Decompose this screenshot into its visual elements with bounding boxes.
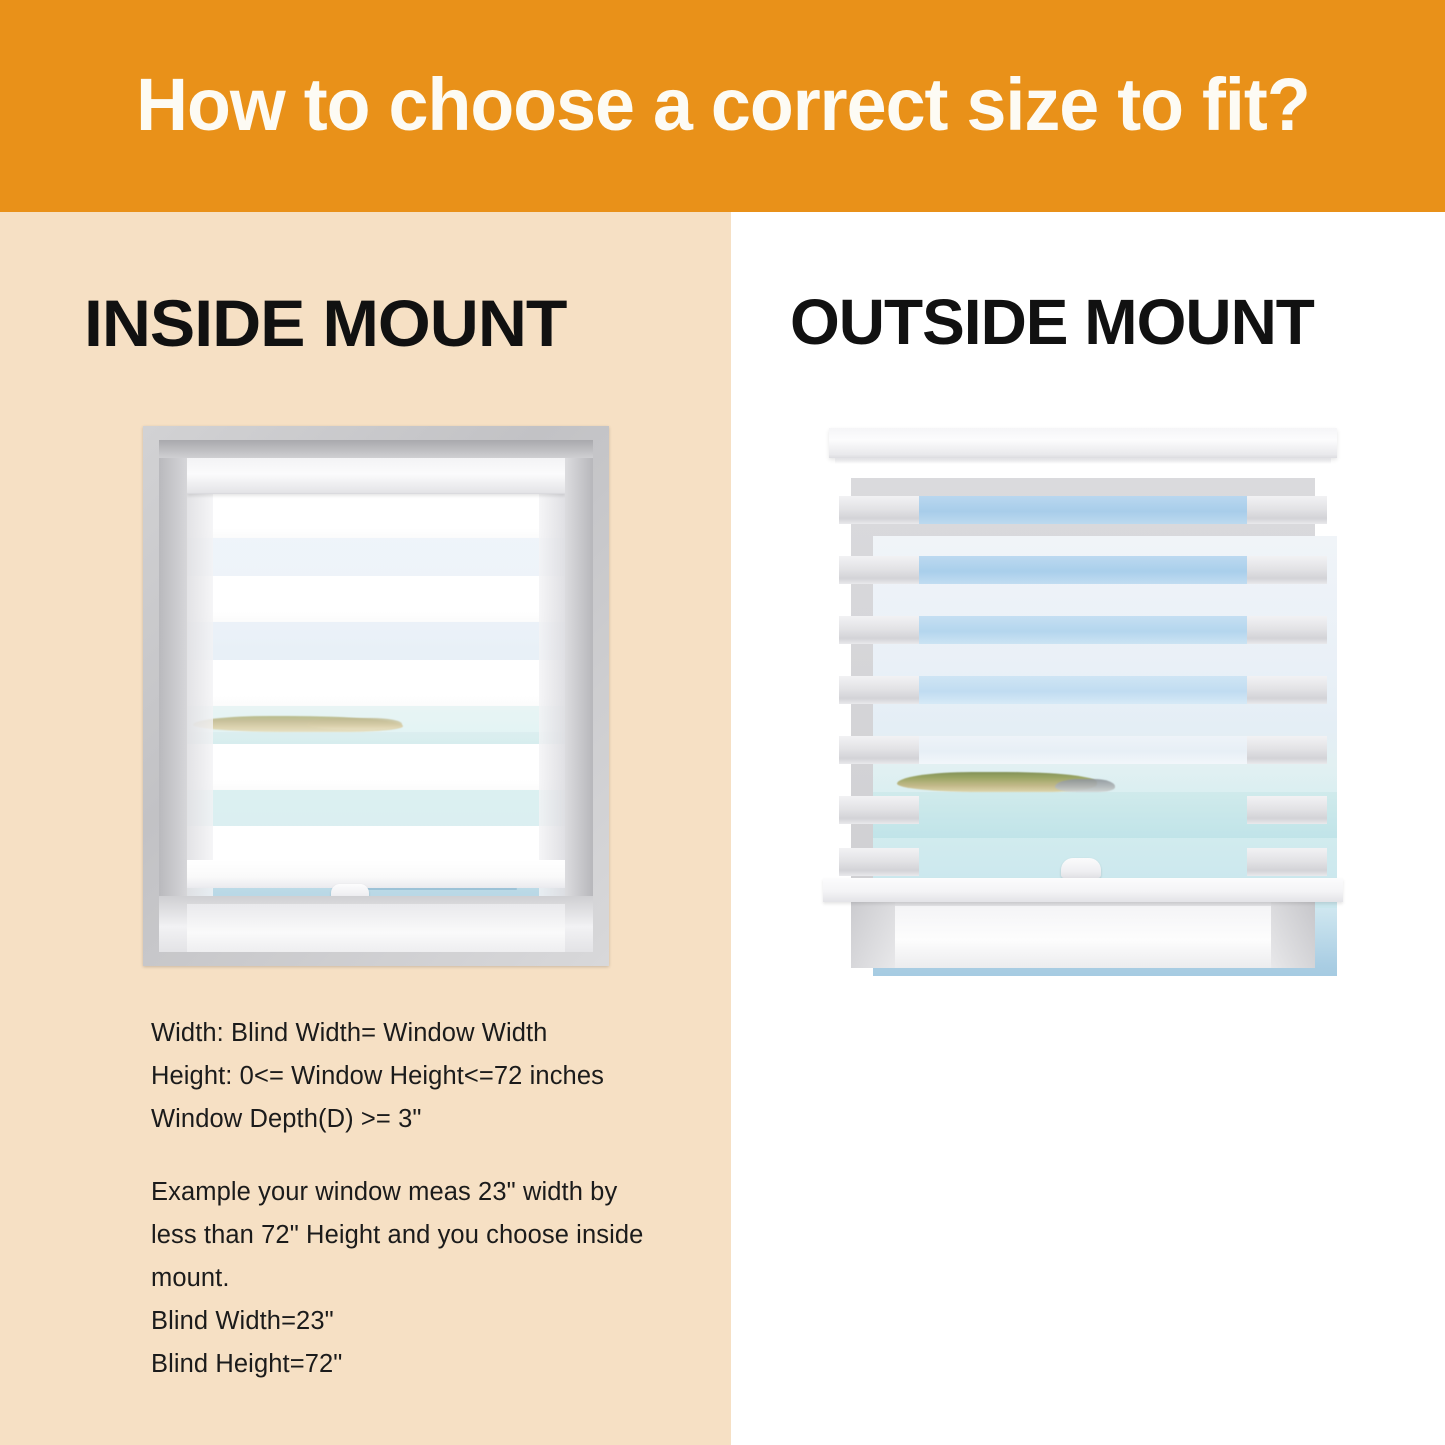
inside-spec-line: Window Depth(D) >= 3" [151, 1098, 696, 1141]
blind-bottom-rail [187, 860, 565, 888]
blind-slat-overhang-right [1247, 796, 1327, 824]
blind-opaque-band [187, 576, 565, 622]
inside-example-line: Example your window meas 23" width by [151, 1171, 696, 1214]
inside-example-line: Blind Width=23" [151, 1300, 696, 1343]
blind-slat-overhang-left [839, 556, 919, 584]
window-header-jamb [159, 440, 593, 458]
blind-slat [839, 496, 1327, 524]
blind-headrail [829, 428, 1337, 458]
blind-slat-overhang-right [1247, 616, 1327, 644]
blind-slat-overhang-left [839, 736, 919, 764]
blind-sheer-band [913, 676, 1253, 704]
blind-slat-overhang-right [1247, 556, 1327, 584]
inside-example-line: Blind Height=72" [151, 1343, 696, 1386]
blind-slat [839, 556, 1327, 584]
outside-mount-illustration [829, 420, 1337, 968]
blind-slat [839, 676, 1327, 704]
outside-mount-heading: OUTSIDE MOUNT [790, 290, 1314, 354]
inside-example-line: mount. [151, 1257, 696, 1300]
blind-slat-overhang-right [1247, 496, 1327, 524]
blind-sheer-band [187, 790, 565, 826]
blind-slat [839, 796, 1327, 824]
blind-slat-overhang-left [839, 796, 919, 824]
inside-spec-line: Height: 0<= Window Height<=72 inches [151, 1055, 696, 1098]
window-jamb-left [159, 440, 187, 952]
blind-sheer-band [913, 736, 1253, 764]
window-sill-face [187, 904, 565, 952]
paragraph-spacer [151, 1141, 696, 1171]
blind-opaque-band [187, 660, 565, 706]
inside-mount-heading: INSIDE MOUNT [84, 290, 566, 356]
blind-sheer-band [187, 622, 565, 660]
blind-sheer-band [913, 496, 1253, 524]
window-recess-inner [889, 906, 1277, 968]
inside-mount-panel: INSIDE MOUNT [0, 212, 731, 1445]
header-banner: How to choose a correct size to fit? [0, 0, 1445, 212]
blind-headrail [187, 458, 565, 494]
blind-side-tape-left [187, 458, 213, 910]
rock-outcrop [1055, 779, 1115, 792]
blind-slat-overhang-left [839, 848, 919, 876]
zebra-blind-fabric [187, 458, 565, 910]
page-title: How to choose a correct size to fit? [136, 62, 1310, 147]
window-jamb-right [565, 440, 593, 952]
inside-mount-text: Width: Blind Width= Window Width Height:… [151, 1012, 696, 1386]
blind-sheer-band [913, 556, 1253, 584]
blind-slat-overhang-left [839, 676, 919, 704]
blind-slat-overhang-right [1247, 736, 1327, 764]
blind-sheer-band [913, 616, 1253, 644]
outside-mount-panel: OUTSIDE MOUNT [731, 212, 1445, 1445]
blind-slat [839, 616, 1327, 644]
blind-headrail-shadow [835, 458, 1331, 464]
blind-sheer-band [913, 796, 1253, 824]
blind-pull-handle [1061, 858, 1101, 878]
blind-slat-overhang-left [839, 616, 919, 644]
blind-opaque-band [187, 494, 565, 538]
blind-slat-overhang-left [839, 496, 919, 524]
window-frame-outer [143, 426, 609, 966]
infographic-page: How to choose a correct size to fit? INS… [0, 0, 1445, 1445]
blind-slat [839, 736, 1327, 764]
blind-side-tape-right [539, 458, 565, 910]
window-sill-board [823, 878, 1343, 902]
blind-sheer-band [187, 538, 565, 576]
blind-slat-overhang-right [1247, 676, 1327, 704]
content-area: INSIDE MOUNT [0, 212, 1445, 1445]
blind-opaque-band [187, 744, 565, 790]
inside-example-line: less than 72" Height and you choose insi… [151, 1214, 696, 1257]
inside-spec-line: Width: Blind Width= Window Width [151, 1012, 696, 1055]
blind-sheer-band [187, 706, 565, 744]
blind-slat-overhang-right [1247, 848, 1327, 876]
